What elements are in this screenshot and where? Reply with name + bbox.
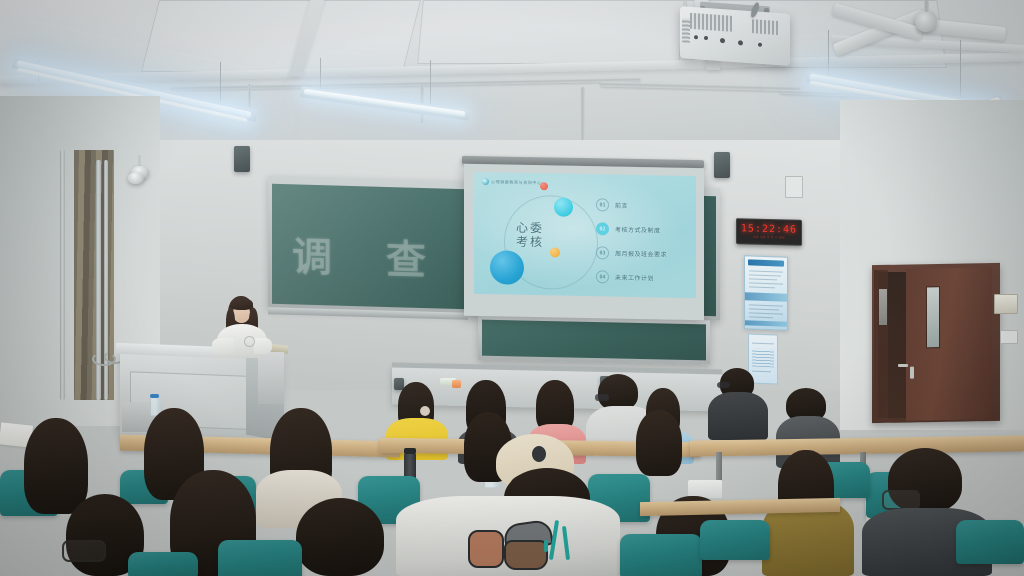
ceiling-pipe-vertical [248,84,251,108]
presenter [212,296,272,376]
agenda-label: 未来工作计划 [615,273,654,283]
bottle-cap [404,448,416,454]
decor-circle-blue [490,250,524,285]
agenda-number: 01 [596,198,609,211]
presenter-arm [254,338,272,354]
fan-downrod [924,0,929,12]
agenda-number: 04 [596,270,609,283]
light-hanger [960,40,961,106]
dome-security-camera [128,172,144,184]
desk-leg [716,452,722,480]
presentation-slide: 心理健康教育与咨询中心 心委 考核 01 前言 02 考核方式及制度 03 [474,172,696,298]
decor-circle-cyan [554,197,573,216]
classroom-chair[interactable] [700,520,770,560]
ceiling-panel [141,0,421,72]
wall-outlet[interactable] [1000,330,1018,344]
window-curtain [0,124,52,424]
door-window [926,286,940,348]
slide-title: 心委 考核 [498,220,562,249]
light-hanger [430,60,431,108]
slide-agenda-item: 01 前言 [596,198,628,212]
slide-agenda-item: 04 未来工作计划 [596,270,654,284]
digital-clock: 15:22:46 温度 湿度 年 月 日 星期 [736,218,802,246]
blackboard [482,320,706,361]
slide-title-line2: 考核 [498,234,562,249]
eyeglasses-icon [717,382,730,388]
wall-speaker [714,152,730,178]
flame-accent [544,540,548,552]
projection-screen: 心理健康教育与咨询中心 心委 考核 01 前言 02 考核方式及制度 03 [464,164,704,321]
slide-logo: 心理健康教育与咨询中心 [482,178,542,186]
agenda-label: 前言 [615,201,628,210]
tshirt-graphic-art [460,516,580,572]
logo-mark-icon [482,178,489,185]
cartoon-fist [468,530,504,568]
agenda-number: 03 [596,246,609,259]
door-window [878,288,888,326]
classroom-photo: 调 查 统 计 2024.10.24 心理健康教育与咨询中心 心委 考核 [0,0,1024,576]
wall-switch-box[interactable] [994,294,1018,314]
bottle-cap [150,394,159,398]
classroom-door[interactable] [906,267,992,421]
flame-accent [562,526,570,560]
wall-outlet[interactable] [785,176,803,198]
ceiling-panel [417,0,685,64]
classroom-chair[interactable] [218,540,302,576]
slide-title-line1: 心委 [498,220,562,235]
light-hanger [220,62,221,102]
wall-speaker [234,146,250,172]
ceiling-projector [680,6,790,66]
presenter-hair [230,298,253,310]
eyeglasses-icon [595,394,609,401]
student-shirt-dark [708,392,768,440]
presenter-arm [212,338,234,354]
eyeglasses-icon [882,490,920,510]
agenda-label: 考核方式及制度 [615,225,661,235]
decor-circle-red [540,182,548,190]
wall-pipe [60,150,65,400]
wall-poster [744,255,788,331]
agenda-label: 周月报及班会要求 [615,249,667,259]
slide-agenda-item: 02 考核方式及制度 [596,222,661,236]
door-handle[interactable] [910,367,914,379]
slide-agenda-item: 03 周月报及班会要求 [596,246,667,260]
classroom-chair[interactable] [956,520,1024,564]
desk-item-cup [452,380,461,388]
agenda-number: 02 [596,222,609,235]
classroom-chair[interactable] [620,534,702,576]
fan-motor [915,10,937,32]
shirt-graphic [244,336,255,347]
cap-logo-icon [532,446,546,462]
eyeglasses-icon [62,540,106,562]
slide-logo-text: 心理健康教育与咨询中心 [491,179,542,186]
clock-subtext: 温度 湿度 年 月 日 星期 [753,235,785,240]
door-handle[interactable] [898,364,908,367]
classroom-chair[interactable] [128,552,198,576]
